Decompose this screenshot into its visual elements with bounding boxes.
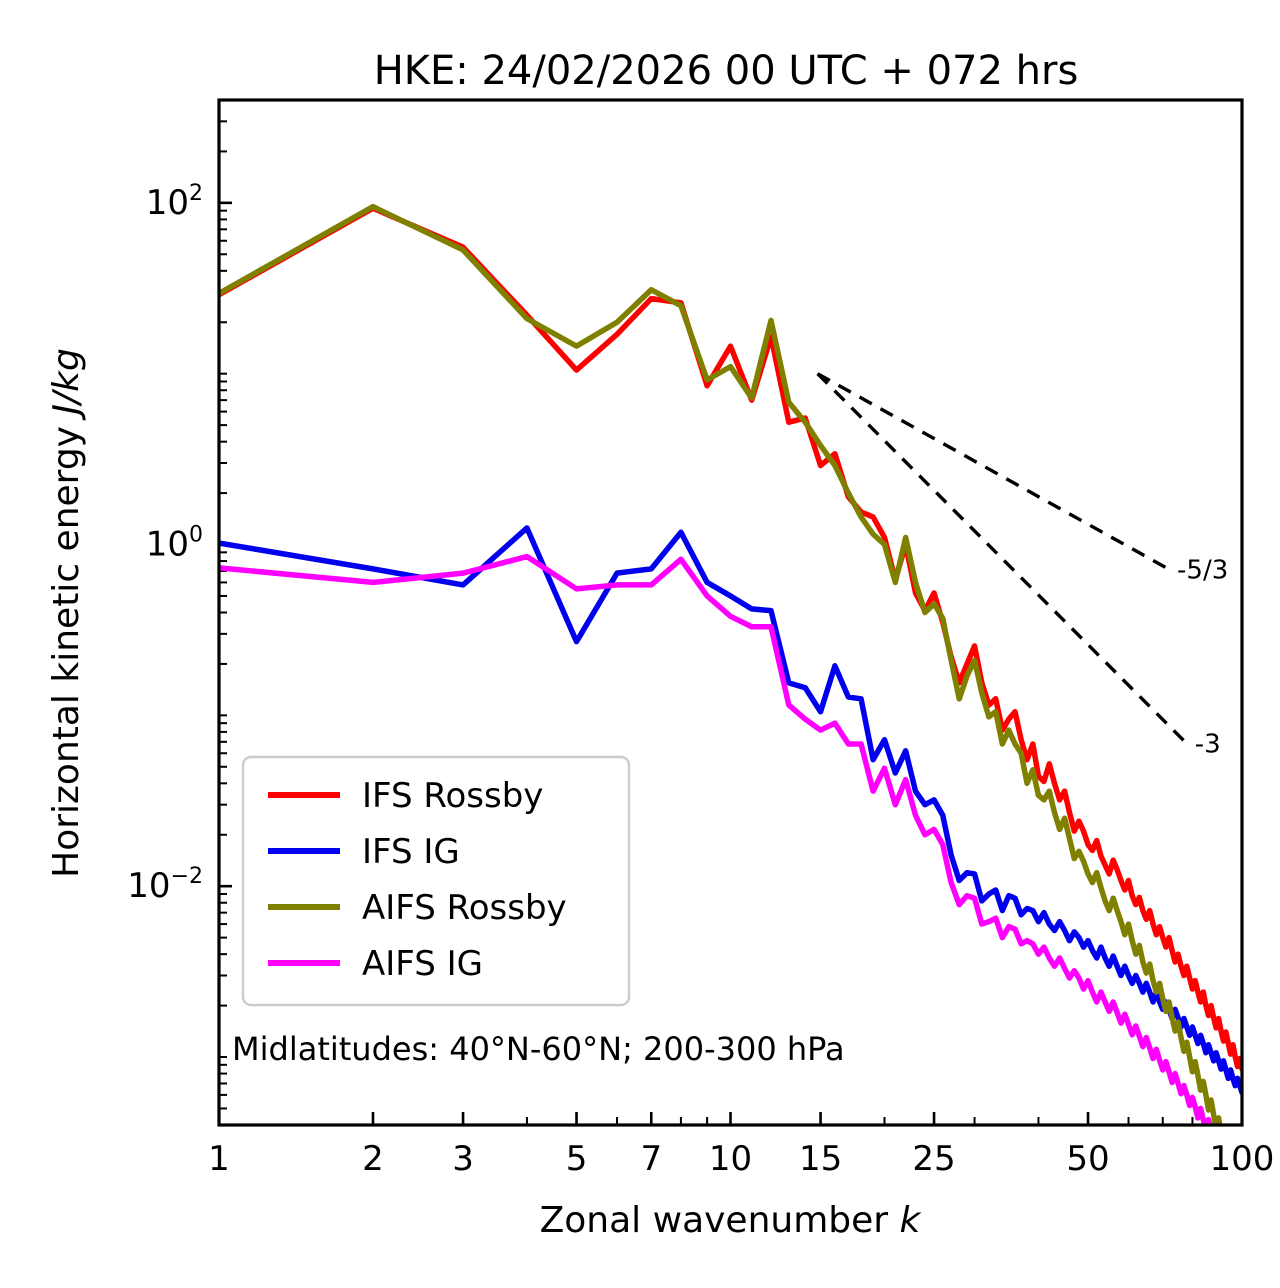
legend-item-label[interactable]: AIFS IG <box>362 944 483 984</box>
y-axis-label-plain: Horizontal kinetic energy <box>46 415 87 878</box>
x-tick-label: 3 <box>452 1139 474 1179</box>
y-tick-label: 100 <box>146 523 203 565</box>
x-tick-label: 7 <box>640 1139 662 1179</box>
page-title: HKE: 24/02/2026 00 UTC + 072 hrs <box>374 48 1079 94</box>
x-tick-label: 15 <box>799 1139 842 1179</box>
x-tick-label: 25 <box>912 1139 955 1179</box>
slope-reference-label: -3 <box>1195 730 1221 760</box>
x-tick-label: 10 <box>709 1139 752 1179</box>
x-axis-label-italic: k <box>900 1200 923 1241</box>
legend-item-label[interactable]: IFS Rossby <box>362 776 543 816</box>
svg-text:Horizontal kinetic energy J/kg: Horizontal kinetic energy J/kg <box>46 348 87 878</box>
figure-canvas: HKE: 24/02/2026 00 UTC + 072 hrs Horizon… <box>0 0 1280 1288</box>
y-axis-label: Horizontal kinetic energy J/kg <box>46 348 87 878</box>
legend[interactable]: IFS RossbyIFS IGAIFS RossbyAIFS IG <box>243 757 629 1005</box>
y-tick-label: 102 <box>146 181 203 223</box>
y-tick-label: 10−2 <box>127 864 203 906</box>
x-tick-label: 50 <box>1066 1139 1109 1179</box>
region-annotation: Midlatitudes: 40°N-60°N; 200-300 hPa <box>232 1030 845 1068</box>
reference-slope-group <box>818 374 1187 744</box>
x-axis-ticks: 1235710152550100 <box>208 1112 1274 1179</box>
reference-slope-labels: -5/3-3 <box>1177 555 1228 759</box>
x-axis-label: Zonal wavenumber k <box>540 1200 923 1241</box>
slope-reference-line <box>818 374 1187 744</box>
slope-reference-line <box>818 374 1169 570</box>
slope-reference-label: -5/3 <box>1177 555 1228 585</box>
legend-item-label[interactable]: IFS IG <box>362 832 460 872</box>
x-tick-label: 1 <box>208 1139 230 1179</box>
x-tick-label: 100 <box>1210 1139 1275 1179</box>
y-axis-ticks: 10210010−2 <box>127 100 232 1125</box>
x-tick-label: 2 <box>362 1139 384 1179</box>
spectrum-plot: HKE: 24/02/2026 00 UTC + 072 hrs Horizon… <box>0 0 1280 1288</box>
legend-item-label[interactable]: AIFS Rossby <box>362 888 567 928</box>
y-axis-label-italic: J/kg <box>46 348 87 420</box>
x-tick-label: 5 <box>566 1139 588 1179</box>
x-axis-label-plain: Zonal wavenumber <box>540 1200 900 1241</box>
